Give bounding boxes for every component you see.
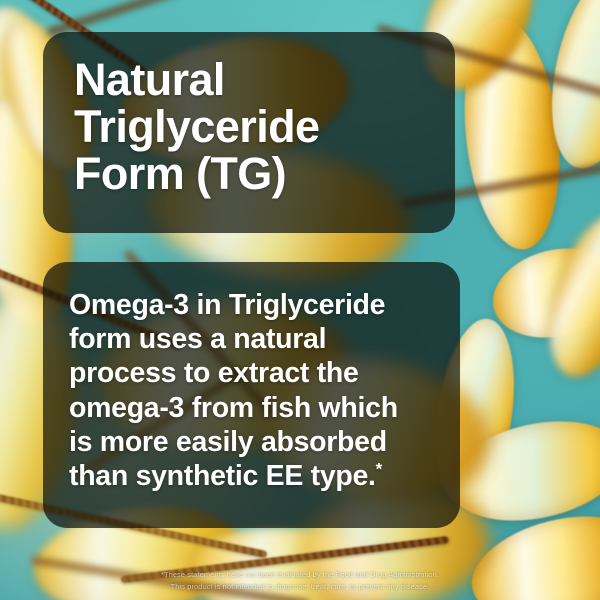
footnote-asterisk: * [376, 459, 382, 478]
body-card: Omega-3 in Triglyceride form uses a natu… [43, 262, 460, 528]
heading-line-3: Form (TG) [74, 148, 286, 199]
heading-line-1: Natural [74, 54, 225, 105]
disclaimer-line-1: *These statements have not been evaluate… [0, 569, 600, 580]
heading-card: Natural Triglyceride Form (TG) [43, 32, 455, 233]
fda-disclaimer: *These statements have not been evaluate… [0, 569, 600, 592]
disclaimer-line-2: This product is not intended to diagnose… [0, 581, 600, 592]
product-infographic: Natural Triglyceride Form (TG) Omega-3 i… [0, 0, 600, 600]
body-line-5: is more easily absorbed [69, 426, 387, 458]
body-line-4: omega-3 from fish which [69, 392, 398, 424]
body-line-3: process to extract the [69, 357, 359, 389]
body-line-1: Omega-3 in Triglyceride [69, 289, 385, 321]
heading-line-2: Triglyceride [74, 101, 319, 152]
body-line-6: than synthetic EE type. [69, 460, 376, 492]
body-line-2: form uses a natural [69, 323, 326, 355]
page-title: Natural Triglyceride Form (TG) [74, 57, 437, 197]
body-copy: Omega-3 in Triglyceride form uses a natu… [69, 288, 444, 493]
